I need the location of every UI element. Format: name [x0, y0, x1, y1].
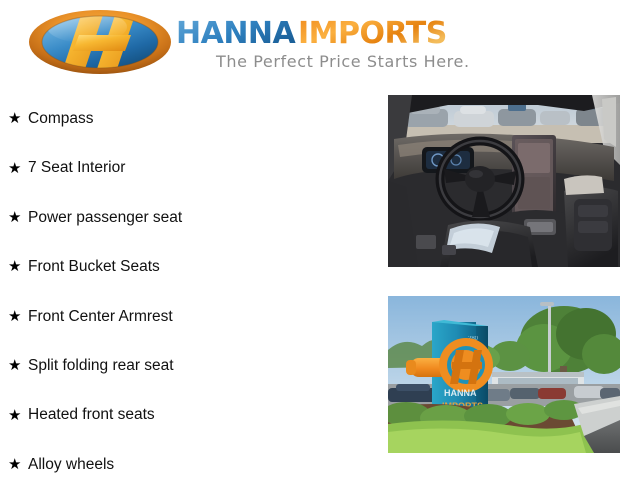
brand-name-part1: HANNA: [176, 16, 297, 51]
feature-label: Heated front seats: [28, 407, 155, 423]
star-bullet-icon: ★: [8, 408, 28, 423]
vehicle-interior-photo: [388, 95, 620, 267]
star-bullet-icon: ★: [8, 358, 28, 373]
star-bullet-icon: ★: [8, 111, 28, 126]
brand-header: HANNA IMPORTS The Perfect Price Starts H…: [0, 0, 640, 88]
feature-list: ★ Compass ★ 7 Seat Interior ★ Power pass…: [0, 94, 380, 489]
star-bullet-icon: ★: [8, 259, 28, 274]
list-item: ★ Split folding rear seat: [0, 341, 380, 390]
hanna-imports-emblem-icon: [27, 9, 173, 75]
svg-text:HANNA: HANNA: [444, 388, 477, 398]
feature-label: Front Bucket Seats: [28, 259, 160, 275]
list-item: ★ Power passenger seat: [0, 193, 380, 242]
dealership-sign-photo: 280 HANNA IMPORTS: [388, 296, 620, 453]
feature-label: Compass: [28, 111, 93, 127]
list-item: ★ Heated front seats: [0, 390, 380, 439]
list-item: ★ Compass: [0, 94, 380, 143]
brand-tagline: The Perfect Price Starts Here.: [216, 52, 516, 71]
list-item: ★ Front Center Armrest: [0, 292, 380, 341]
brand-wordmark: HANNA IMPORTS: [176, 13, 512, 53]
star-bullet-icon: ★: [8, 309, 28, 324]
star-bullet-icon: ★: [8, 210, 28, 225]
star-bullet-icon: ★: [8, 161, 28, 176]
feature-label: Split folding rear seat: [28, 358, 174, 374]
feature-label: Alloy wheels: [28, 457, 114, 473]
feature-label: 7 Seat Interior: [28, 160, 125, 176]
feature-label: Front Center Armrest: [28, 309, 173, 325]
list-item: ★ 7 Seat Interior: [0, 143, 380, 192]
vehicle-feature-sheet: HANNA IMPORTS The Perfect Price Starts H…: [0, 0, 640, 480]
brand-name-part2: IMPORTS: [298, 16, 447, 51]
star-bullet-icon: ★: [8, 457, 28, 472]
list-item: ★ Alloy wheels: [0, 440, 380, 489]
list-item: ★ Front Bucket Seats: [0, 242, 380, 291]
feature-label: Power passenger seat: [28, 210, 182, 226]
